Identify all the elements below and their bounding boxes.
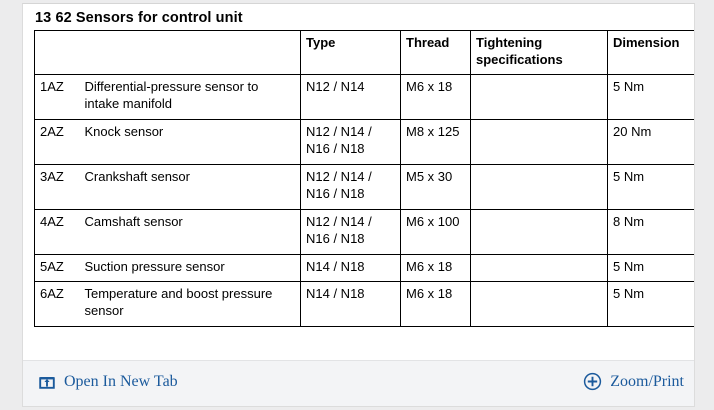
table-row: 1AZ Differential-pressure sensor to inta…: [35, 75, 696, 120]
table-row: 6AZ Temperature and boost pressure senso…: [35, 282, 696, 327]
cell-tightening: [471, 255, 608, 282]
cell-thread: M6 x 18: [401, 255, 471, 282]
cell-label: 2AZ: [35, 120, 79, 165]
cell-type: N12 / N14 / N16 / N18: [301, 120, 401, 165]
column-header-label: [35, 31, 79, 75]
page-title: 13 62 Sensors for control unit: [35, 10, 243, 26]
cell-label: 3AZ: [35, 165, 79, 210]
cell-label: 5AZ: [35, 255, 79, 282]
cell-type: N12 / N14 / N16 / N18: [301, 165, 401, 210]
column-header-thread: Thread: [401, 31, 471, 75]
cell-description: Differential-pressure sensor to intake m…: [79, 75, 301, 120]
column-header-description: [79, 31, 301, 75]
column-header-tightening-specifications: Tightening specifications: [471, 31, 608, 75]
cell-thread: M5 x 30: [401, 165, 471, 210]
cell-type: N14 / N18: [301, 255, 401, 282]
table-row: 3AZ Crankshaft sensor N12 / N14 / N16 / …: [35, 165, 696, 210]
cell-thread: M6 x 100: [401, 210, 471, 255]
cell-tightening: [471, 210, 608, 255]
cell-description: Knock sensor: [79, 120, 301, 165]
cell-type: N12 / N14: [301, 75, 401, 120]
cell-label: 4AZ: [35, 210, 79, 255]
cell-description: Temperature and boost pressure sensor: [79, 282, 301, 327]
cell-type: N14 / N18: [301, 282, 401, 327]
cell-tightening: [471, 75, 608, 120]
table-row: 4AZ Camshaft sensor N12 / N14 / N16 / N1…: [35, 210, 696, 255]
cell-thread: M8 x 125: [401, 120, 471, 165]
cell-tightening: [471, 165, 608, 210]
cell-dimension: 5 Nm: [608, 165, 696, 210]
cell-tightening: [471, 120, 608, 165]
cell-dimension: 5 Nm: [608, 75, 696, 120]
cell-description: Crankshaft sensor: [79, 165, 301, 210]
table-row: 5AZ Suction pressure sensor N14 / N18 M6…: [35, 255, 696, 282]
column-header-dimension: Dimension: [608, 31, 696, 75]
cell-type: N12 / N14 / N16 / N18: [301, 210, 401, 255]
action-bar: Open In New Tab Zoom/Print: [23, 360, 695, 406]
open-in-new-tab-label: Open In New Tab: [64, 372, 178, 391]
document-page: 13 62 Sensors for control unit Type Thre…: [23, 4, 695, 360]
cell-dimension: 5 Nm: [608, 255, 696, 282]
open-in-new-tab-icon: [37, 372, 56, 391]
cell-thread: M6 x 18: [401, 282, 471, 327]
zoom-print-label: Zoom/Print: [610, 372, 684, 391]
cell-dimension: 20 Nm: [608, 120, 696, 165]
cell-dimension: 5 Nm: [608, 282, 696, 327]
column-header-type: Type: [301, 31, 401, 75]
cell-dimension: 8 Nm: [608, 210, 696, 255]
cell-description: Suction pressure sensor: [79, 255, 301, 282]
cell-tightening: [471, 282, 608, 327]
cell-description: Camshaft sensor: [79, 210, 301, 255]
cell-label: 1AZ: [35, 75, 79, 120]
cell-label: 6AZ: [35, 282, 79, 327]
table-header-row: Type Thread Tightening specifications Di…: [35, 31, 696, 75]
open-in-new-tab-button[interactable]: Open In New Tab: [37, 372, 178, 391]
table-row: 2AZ Knock sensor N12 / N14 / N16 / N18 M…: [35, 120, 696, 165]
document-viewer-panel: 13 62 Sensors for control unit Type Thre…: [22, 3, 695, 407]
plus-circle-icon: [583, 372, 602, 391]
sensor-spec-table: Type Thread Tightening specifications Di…: [34, 30, 695, 327]
zoom-print-button[interactable]: Zoom/Print: [583, 372, 684, 391]
cell-thread: M6 x 18: [401, 75, 471, 120]
